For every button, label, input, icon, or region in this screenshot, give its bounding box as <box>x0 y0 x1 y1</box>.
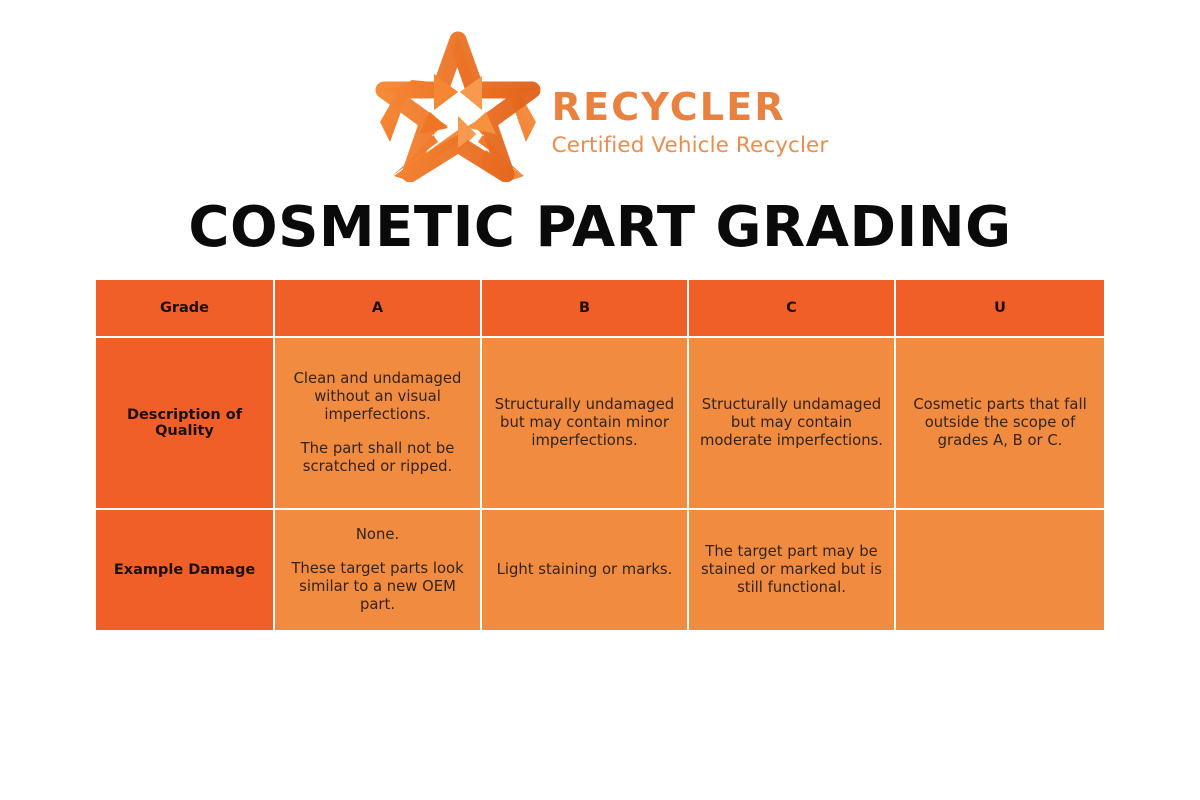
cell-description-u: Cosmetic parts that fall outside the sco… <box>896 338 1104 510</box>
cell-damage-a: None.These target parts look similar to … <box>275 510 482 630</box>
column-header-b: B <box>482 280 689 338</box>
cell-damage-b: Light staining or marks. <box>482 510 689 630</box>
table-row: Example Damage None.These target parts l… <box>96 510 1104 630</box>
logo-tagline: Certified Vehicle Recycler <box>552 135 829 157</box>
cell-damage-u <box>896 510 1104 630</box>
logo-wordmark: RECYCLER Certified Vehicle Recycler <box>548 54 829 157</box>
cell-damage-c: The target part may be stained or marked… <box>689 510 896 630</box>
table-row: Description of Quality Clean and undamag… <box>96 338 1104 510</box>
column-header-c: C <box>689 280 896 338</box>
brand-logo: RECYCLER Certified Vehicle Recycler <box>0 28 1200 183</box>
row-label-example-damage: Example Damage <box>96 510 275 630</box>
column-header-a: A <box>275 280 482 338</box>
grading-poster: RECYCLER Certified Vehicle Recycler COSM… <box>0 0 1200 800</box>
logo-title: RECYCLER <box>552 88 829 126</box>
column-header-grade: Grade <box>96 280 275 338</box>
table-header-row: Grade A B C U <box>96 280 1104 338</box>
cell-description-b: Structurally undamaged but may contain m… <box>482 338 689 510</box>
logo-inner: RECYCLER Certified Vehicle Recycler <box>372 30 829 182</box>
row-label-description-of-quality: Description of Quality <box>96 338 275 510</box>
page-title: COSMETIC PART GRADING <box>0 196 1200 260</box>
cell-description-a: Clean and undamaged without an visual im… <box>275 338 482 510</box>
cell-description-c: Structurally undamaged but may contain m… <box>689 338 896 510</box>
recycling-star-icon <box>372 30 544 182</box>
column-header-u: U <box>896 280 1104 338</box>
cosmetic-part-grading-table: Grade A B C U Description of Quality Cle… <box>96 280 1104 630</box>
